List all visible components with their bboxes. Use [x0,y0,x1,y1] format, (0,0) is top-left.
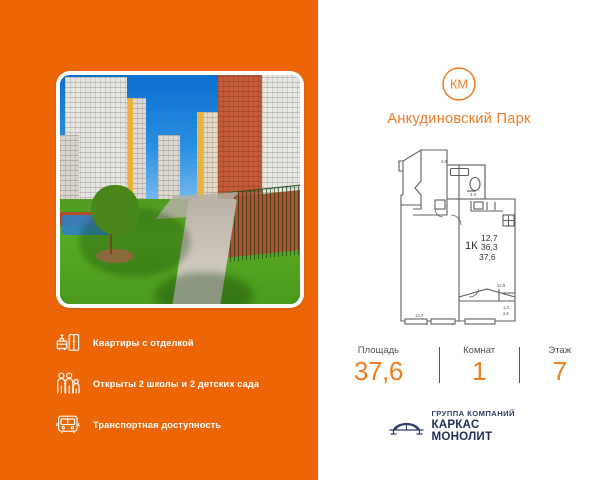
listing-card: Квартиры с отделкой [0,0,600,480]
dimension-label: 2,6 [503,311,509,316]
building-3 [158,135,180,204]
stat-floor: Этаж 7 [519,345,600,385]
tree-crown [91,185,139,235]
area-without-balcony-label: 36,3 [481,242,498,252]
complex-photo-frame[interactable] [56,71,304,308]
stat-rooms: Комнат 1 [439,345,520,385]
total-area-label: 37,6 [479,252,496,262]
stat-label: Этаж [519,345,600,356]
arch-bridge-icon [389,416,425,438]
dimension-label: 12,9 [497,283,506,288]
details-panel: КМ Анкудиновский Парк [318,0,600,480]
company-name: КАРКАС МОНОЛИТ [432,419,530,443]
dimension-label: 4,8 [441,159,447,164]
feature-label: Открыты 2 школы и 2 детских сада [93,379,259,389]
tree-base [96,249,134,263]
developer-logo[interactable]: ГРУППА КОМПАНИЙ КАРКАС МОНОЛИТ [389,410,530,443]
dimension-label: 1,3 [503,305,509,310]
furniture-icon [56,330,86,356]
svg-text:КМ: КМ [450,78,468,92]
promo-panel: Квартиры с отделкой [0,0,318,480]
building-5-brick [218,75,266,203]
building-4-accent [198,112,204,204]
stat-label: Комнат [439,345,520,356]
stat-value: 7 [519,357,600,385]
complex-name: Анкудиновский Парк [318,111,600,127]
feature-item-schools: Открыты 2 школы и 2 детских сада [56,363,306,404]
feature-item-transport: Транспортная доступность [56,404,306,445]
building-2-accent [128,98,133,203]
floorplan[interactable]: 4,8 3,9 12,7 12,9 1,3 2,6 1К 12,7 36,3 3… [391,143,527,333]
building-6 [262,75,300,203]
developer-name-block: ГРУППА КОМПАНИЙ КАРКАС МОНОЛИТ [432,410,530,443]
rooms-count-label: 1К [465,240,478,252]
km-logo-icon: КМ [441,66,477,102]
stats-row: Площадь 37,6 Комнат 1 Этаж 7 [318,345,600,385]
building-1b [60,135,79,204]
stat-area: Площадь 37,6 [318,345,439,385]
features-list: Квартиры с отделкой [56,322,306,445]
stat-value: 1 [439,357,520,385]
brand-header: КМ Анкудиновский Парк [318,66,600,127]
stat-label: Площадь [318,345,439,356]
bus-icon [56,412,86,438]
dimension-label: 3,9 [470,192,476,197]
stat-value: 37,6 [318,357,439,385]
feature-item-finishing: Квартиры с отделкой [56,322,306,363]
family-icon [56,371,86,397]
company-prefix: ГРУППА КОМПАНИЙ [432,410,530,418]
feature-label: Транспортная доступность [93,420,221,430]
residential-complex-photo [60,75,300,304]
feature-label: Квартиры с отделкой [93,338,194,348]
dimension-label: 12,7 [415,313,424,318]
